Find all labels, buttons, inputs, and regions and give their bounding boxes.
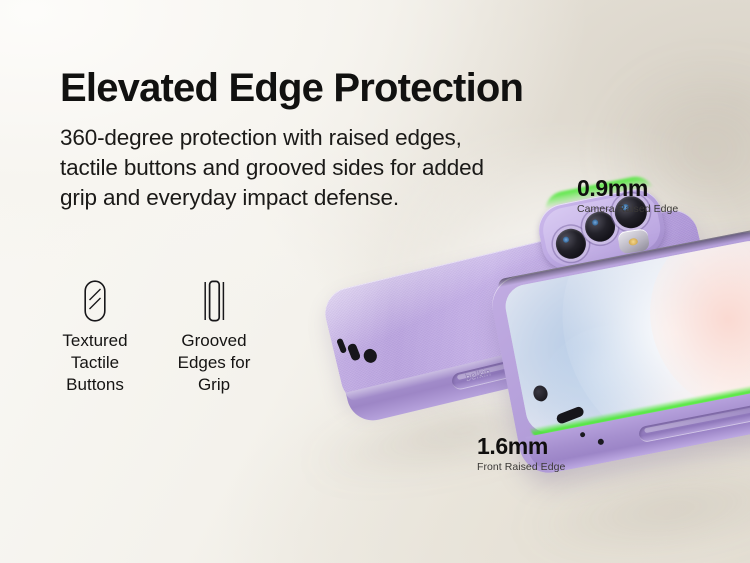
camera-lens: [553, 226, 588, 261]
callout-camera-raised-edge: 0.9mm Camera Raised Edge: [577, 175, 678, 215]
product-photo: belkin: [0, 0, 750, 563]
product-marketing-banner: Elevated Edge Protection 360-degree prot…: [0, 0, 750, 563]
callout-value: 1.6mm: [477, 433, 565, 459]
callout-front-raised-edge: 1.6mm Front Raised Edge: [477, 433, 565, 473]
callout-label: Front Raised Edge: [477, 461, 565, 473]
callout-value: 0.9mm: [577, 175, 678, 201]
callout-label: Camera Raised Edge: [577, 203, 678, 215]
